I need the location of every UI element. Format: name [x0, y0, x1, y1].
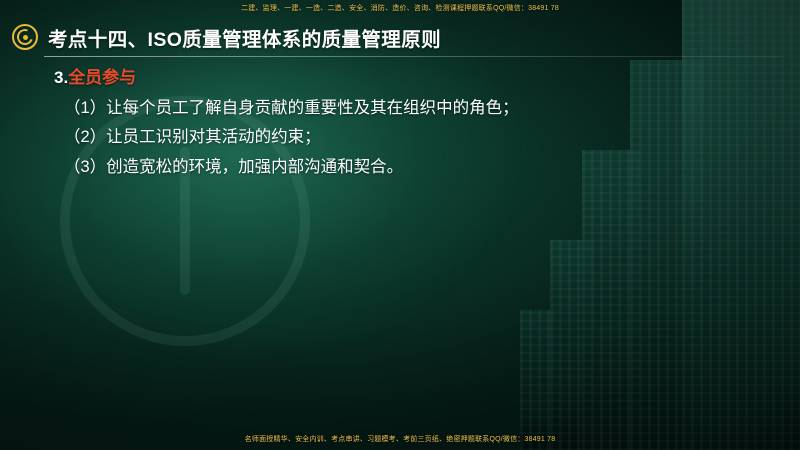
slide-body: 3.全员参与 （1）让每个员工了解自身贡献的重要性及其在组织中的角色； （2）让… [0, 64, 800, 181]
title-divider [44, 56, 782, 57]
body-paragraph-1: （1）让每个员工了解自身贡献的重要性及其在组织中的角色； [0, 95, 800, 122]
course-logo-icon [12, 24, 38, 50]
slide-canvas: 二建、监理、一建、一造、二造、安全、消防、造价、咨询、检测课程押题联系QQ/微信… [0, 0, 800, 450]
section-number: 3. [54, 68, 68, 87]
page-title: 考点十四、ISO质量管理体系的质量管理原则 [48, 23, 441, 52]
slide-header: 考点十四、ISO质量管理体系的质量管理原则 [0, 18, 800, 56]
logo-center-dot [23, 35, 28, 40]
body-paragraph-3: （3）创造宽松的环境，加强内部沟通和契合。 [0, 154, 800, 181]
top-promo-banner: 二建、监理、一建、一造、二造、安全、消防、造价、咨询、检测课程押题联系QQ/微信… [0, 3, 800, 13]
section-title: 全员参与 [68, 68, 136, 87]
bottom-promo-banner: 名师面授精华、安全内训、考点串讲、习题模考、考前三页纸、绝密押题联系QQ/微信：… [0, 434, 800, 444]
body-paragraph-2: （2）让员工识别对其活动的约束； [0, 124, 800, 151]
section-heading: 3.全员参与 [0, 64, 800, 92]
